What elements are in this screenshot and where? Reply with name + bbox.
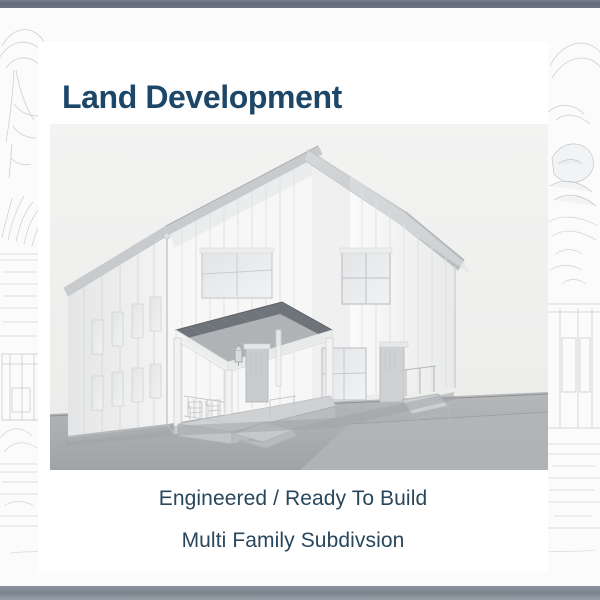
flyer-card: Land Development Opportunity: [38, 42, 548, 572]
right-blueprint-sketch-strip: [548, 8, 600, 586]
caption-line-2: Multi Family Subdivsion: [38, 520, 548, 562]
caption-block: Engineered / Ready To Build Multi Family…: [38, 478, 548, 562]
architectural-rendering-image: [50, 124, 548, 470]
headline-line-1: Land Development: [62, 68, 532, 126]
bottom-slate-bar: [0, 586, 600, 600]
listing-flyer: Land Development Opportunity: [0, 0, 600, 600]
caption-line-1: Engineered / Ready To Build: [38, 478, 548, 520]
top-slate-bar: [0, 0, 600, 8]
